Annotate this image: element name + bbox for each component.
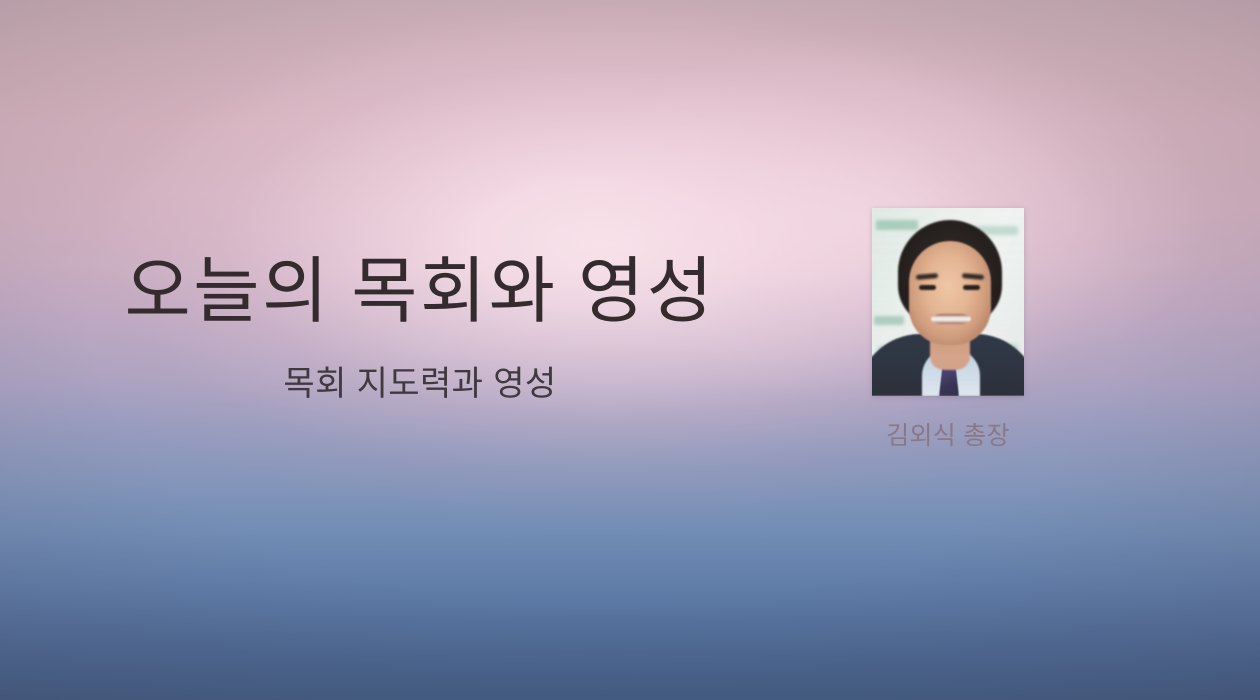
speaker-portrait-photo	[872, 208, 1024, 396]
portrait-photo-overlay	[872, 208, 1024, 396]
page-title: 오늘의 목회와 영성	[0, 252, 840, 333]
presentation-slide: 오늘의 목회와 영성 목회 지도력과 영성 김외식 총장	[0, 0, 1260, 700]
speaker-block: 김외식 총장	[872, 208, 1024, 453]
speaker-caption: 김외식 총장	[872, 420, 1024, 453]
page-subtitle: 목회 지도력과 영성	[0, 363, 840, 406]
title-block: 오늘의 목회와 영성 목회 지도력과 영성	[0, 252, 840, 405]
